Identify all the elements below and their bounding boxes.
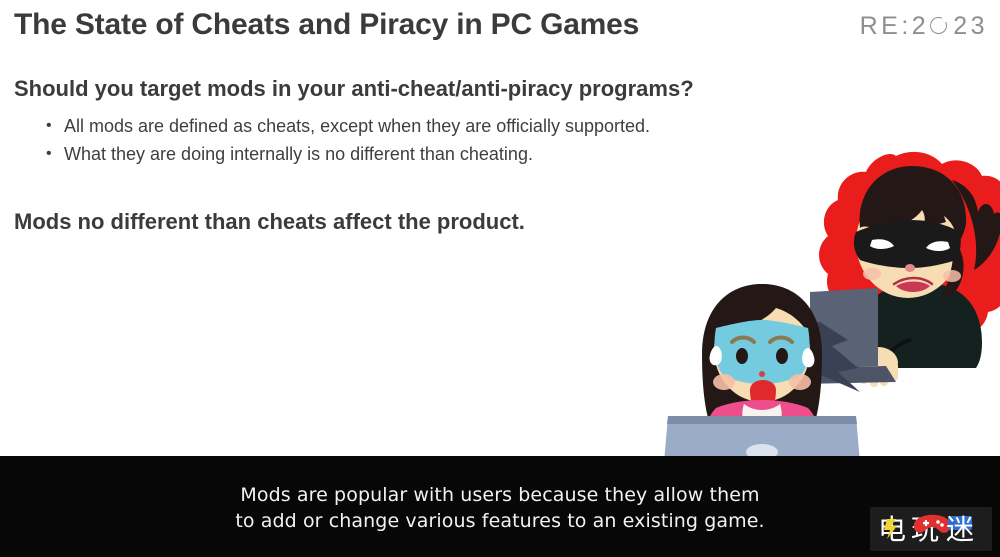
channel-watermark-logo: 电 玩 迷 <box>870 507 992 551</box>
watermark-char-3: 迷 <box>946 513 974 546</box>
question-heading: Should you target mods in your anti-chea… <box>14 76 694 102</box>
watermark-char-1: 电 <box>878 513 906 546</box>
bullet-list: All mods are defined as cheats, except w… <box>46 112 650 168</box>
hacker-and-worried-user-illustration <box>660 150 1000 456</box>
list-item: What they are doing internally is no dif… <box>46 140 650 168</box>
svg-text:迷: 迷 <box>946 513 974 546</box>
subtitle-line-2: to add or change various features to an … <box>0 508 1000 534</box>
slide-content-area: The State of Cheats and Piracy in PC Gam… <box>0 0 1000 456</box>
girl-laptop <box>661 416 863 456</box>
subtitle-text: Mods are popular with users because they… <box>0 482 1000 534</box>
list-item: All mods are defined as cheats, except w… <box>46 112 650 140</box>
re2023-brand-logo: RE:2 23 <box>860 12 988 41</box>
open-circle-zero-icon <box>930 17 949 36</box>
watermark-char-2: 玩 <box>911 513 950 546</box>
subtitle-line-1: Mods are popular with users because they… <box>0 482 1000 508</box>
emphasis-statement: Mods no different than cheats affect the… <box>14 209 525 235</box>
subtitle-bar: Mods are popular with users because they… <box>0 456 1000 557</box>
slide-title: The State of Cheats and Piracy in PC Gam… <box>14 8 639 42</box>
presentation-slide-screenshot: The State of Cheats and Piracy in PC Gam… <box>0 0 1000 557</box>
brand-logo-suffix: 23 <box>953 12 988 41</box>
brand-logo-prefix: RE:2 <box>860 12 930 41</box>
